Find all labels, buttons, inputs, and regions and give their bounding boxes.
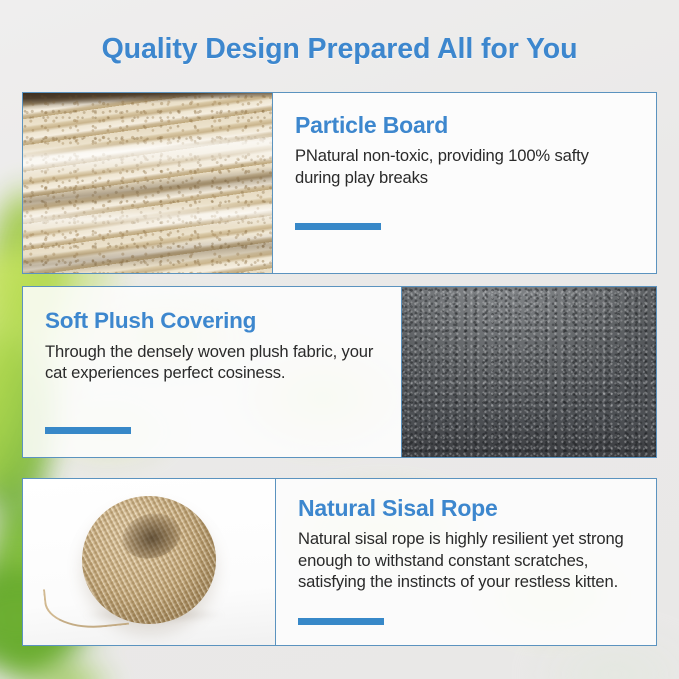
accent-bar — [295, 223, 381, 230]
sisal-loose-strand — [43, 581, 129, 633]
plush-fabric-photo — [401, 287, 656, 457]
accent-bar — [45, 427, 131, 434]
page-root: Quality Design Prepared All for You Part… — [0, 0, 679, 679]
plush-dome-shape — [401, 287, 656, 457]
feature-card-body: Soft Plush Covering Through the densely … — [23, 287, 401, 457]
feature-card-body: Particle Board PNatural non-toxic, provi… — [273, 93, 656, 273]
particle-board-photo — [23, 93, 273, 273]
feature-card-title: Soft Plush Covering — [45, 309, 379, 334]
feature-card-description: Natural sisal rope is highly resilient y… — [298, 528, 634, 593]
feature-card-body: Natural Sisal Rope Natural sisal rope is… — [276, 479, 656, 645]
feature-card-title: Natural Sisal Rope — [298, 496, 634, 521]
feature-card-particle-board: Particle Board PNatural non-toxic, provi… — [22, 92, 657, 274]
page-title: Quality Design Prepared All for You — [0, 33, 679, 66]
feature-card-description: PNatural non-toxic, providing 100% safty… — [295, 145, 634, 188]
feature-card-natural-sisal-rope: Natural Sisal Rope Natural sisal rope is… — [22, 478, 657, 646]
sisal-rope-image-texture — [23, 479, 275, 645]
accent-bar — [298, 618, 384, 625]
sisal-rope-photo — [23, 479, 276, 645]
plush-fabric-image-texture — [402, 287, 656, 457]
feature-card-title: Particle Board — [295, 113, 634, 138]
feature-card-soft-plush-covering: Soft Plush Covering Through the densely … — [22, 286, 657, 458]
feature-card-description: Through the densely woven plush fabric, … — [45, 341, 375, 384]
particle-board-image-texture — [23, 93, 272, 273]
